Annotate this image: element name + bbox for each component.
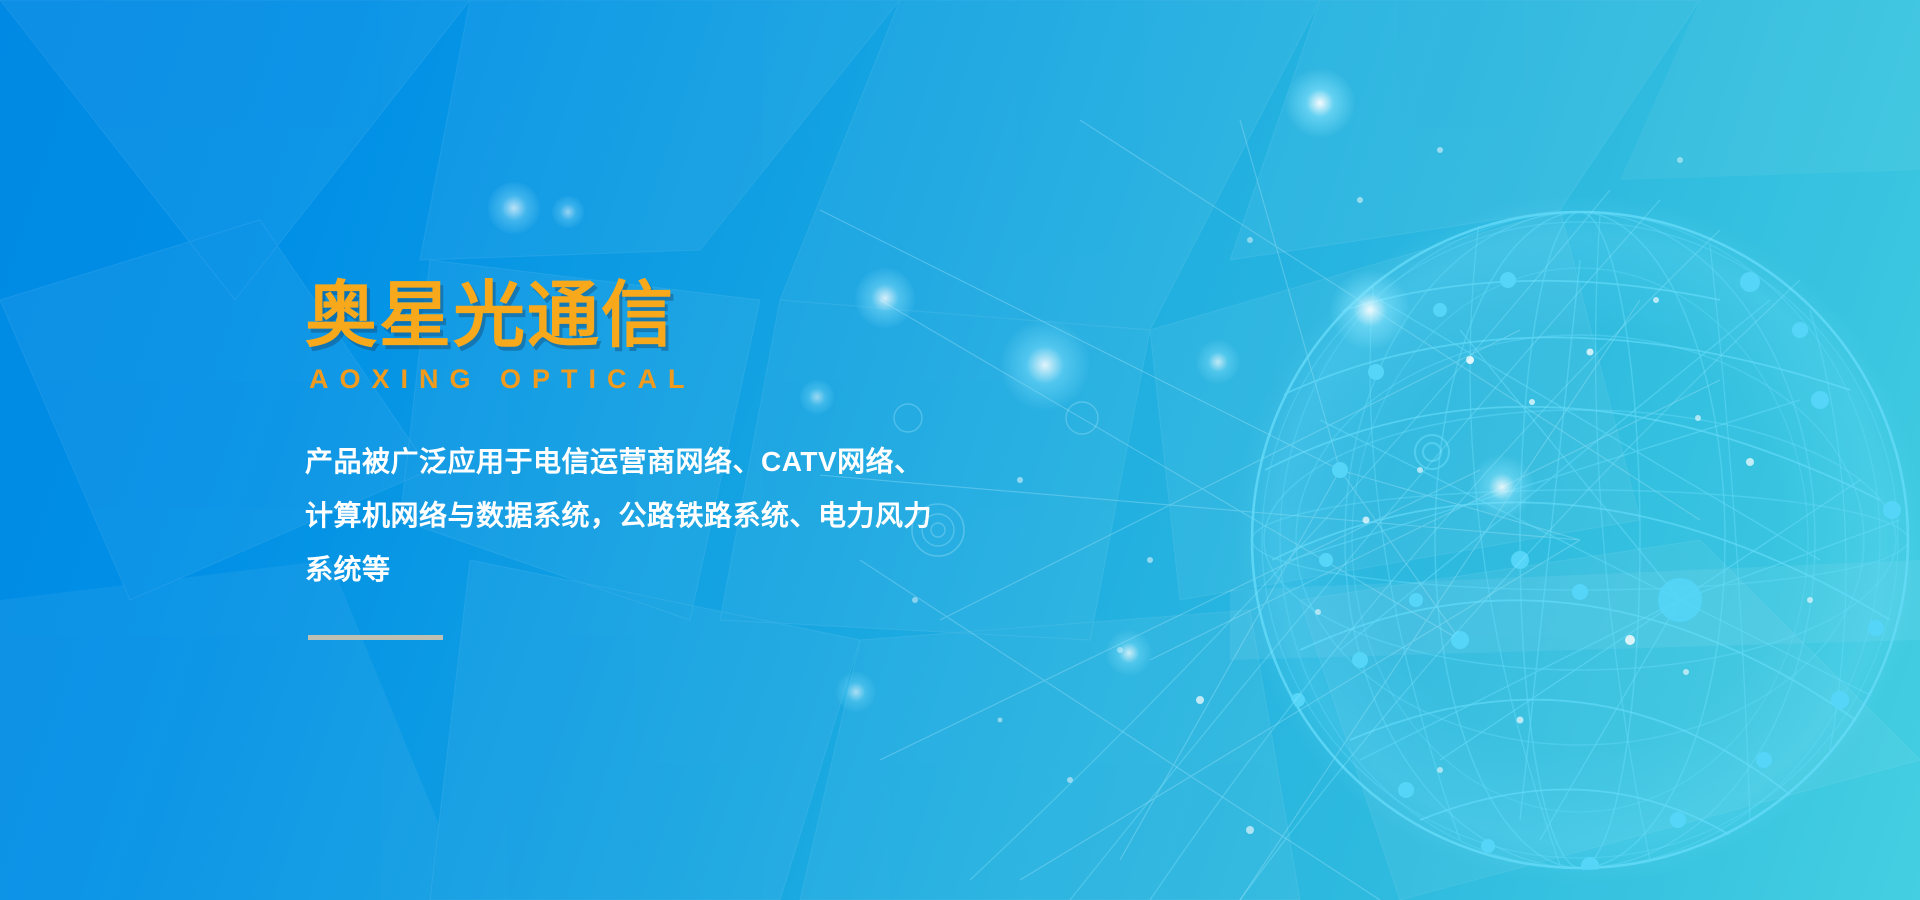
brand-title: 奥星光通信 [305, 280, 1005, 352]
glow-node [552, 196, 584, 228]
glow-node [1000, 320, 1090, 410]
glow-node [488, 182, 540, 234]
hero-content: 奥星光通信 AOXING OPTICAL 产品被广泛应用于电信运营商网络、CAT… [305, 280, 1005, 640]
brand-subtitle: AOXING OPTICAL [309, 366, 1005, 393]
glow-node [1470, 455, 1534, 519]
brand-description: 产品被广泛应用于电信运营商网络、CATV网络、计算机网络与数据系统，公路铁路系统… [305, 435, 945, 597]
divider-line [308, 635, 443, 640]
glow-node [836, 672, 876, 712]
glow-node [1285, 68, 1355, 138]
hero-banner: 奥星光通信 AOXING OPTICAL 产品被广泛应用于电信运营商网络、CAT… [0, 0, 1920, 900]
glow-node [1330, 270, 1410, 350]
glow-node [1196, 340, 1240, 384]
glow-node [1106, 630, 1152, 676]
